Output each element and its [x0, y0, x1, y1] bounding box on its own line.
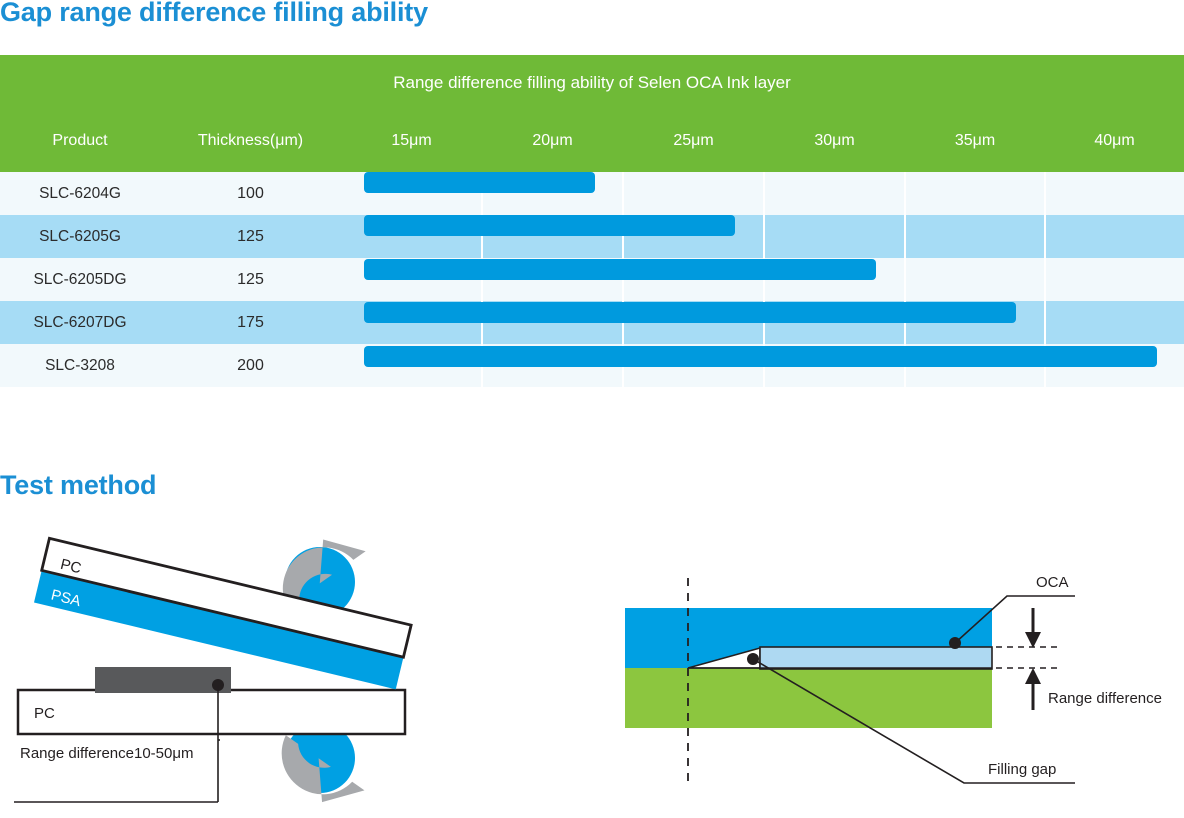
test-method-tilt-diagram: PC PC PSA Range difference10-50μm [0, 520, 460, 818]
cell-bar-20um [482, 215, 623, 258]
cell-bar-25um [623, 301, 764, 344]
column-header-40um: 40μm [1045, 110, 1184, 172]
column-header-20um: 20μm [482, 110, 623, 172]
column-header-30um: 30μm [764, 110, 905, 172]
cell-bar-40um [1045, 301, 1184, 344]
cell-bar-30um [764, 301, 905, 344]
arrow-up-icon [1025, 668, 1041, 710]
table-row: SLC-6205DG 125 [0, 258, 1184, 301]
cell-bar-35um [905, 344, 1045, 387]
page-title-test-method: Test method [0, 470, 156, 501]
bottom-rotation-arrow-icon [266, 723, 364, 818]
tilted-laminate: PC PSA [34, 538, 411, 689]
column-header-product: Product [0, 110, 160, 172]
cell-bar-20um [482, 344, 623, 387]
cell-bar-35um [905, 258, 1045, 301]
oca-label: OCA [1036, 574, 1069, 591]
bottom-pc-label: PC [34, 705, 55, 722]
cell-bar-25um [623, 215, 764, 258]
table-header-row: Product Thickness(μm) 15μm 20μm 25μm 30μ… [0, 110, 1184, 172]
column-header-thickness: Thickness(μm) [160, 110, 341, 172]
page-title-gap-range: Gap range difference filling ability [0, 0, 428, 28]
cell-product: SLC-3208 [0, 344, 160, 387]
cell-bar-30um [764, 258, 905, 301]
arrow-down-icon [1025, 608, 1041, 648]
cell-bar-40um [1045, 172, 1184, 215]
table-row: SLC-6207DG 175 [0, 301, 1184, 344]
cell-bar-40um [1045, 215, 1184, 258]
cell-bar-40um [1045, 344, 1184, 387]
cell-bar-30um [764, 215, 905, 258]
cell-bar-30um [764, 172, 905, 215]
filling-ability-table-wrap: Range difference filling ability of Sele… [0, 55, 1184, 392]
range-difference-note: Range difference10-50μm [20, 745, 193, 762]
cell-bar-25um [623, 258, 764, 301]
cell-thickness: 125 [160, 215, 341, 258]
table-caption: Range difference filling ability of Sele… [0, 55, 1184, 110]
spacer-block [95, 667, 231, 693]
cell-thickness: 175 [160, 301, 341, 344]
cell-bar-35um [905, 301, 1045, 344]
cell-product: SLC-6204G [0, 172, 160, 215]
cell-thickness: 100 [160, 172, 341, 215]
cell-product: SLC-6207DG [0, 301, 160, 344]
cell-bar-25um [623, 344, 764, 387]
table-caption-row: Range difference filling ability of Sele… [0, 55, 1184, 110]
table-row: SLC-3208 200 [0, 344, 1184, 387]
filling-gap-cross-section-diagram: OCA Range difference Filling gap [600, 540, 1184, 810]
column-header-15um: 15μm [341, 110, 482, 172]
cell-bar-20um [482, 172, 623, 215]
cell-bar-15um [341, 172, 482, 215]
range-difference-label: Range difference [1048, 690, 1162, 707]
cell-bar-20um [482, 258, 623, 301]
substrate-green-layer [625, 668, 992, 728]
filling-gap-layer [760, 647, 992, 669]
filling-gap-label: Filling gap [988, 761, 1056, 778]
cell-bar-40um [1045, 258, 1184, 301]
cell-product: SLC-6205DG [0, 258, 160, 301]
cell-bar-35um [905, 215, 1045, 258]
cell-bar-15um [341, 301, 482, 344]
cell-thickness: 125 [160, 258, 341, 301]
cell-bar-30um [764, 344, 905, 387]
table-row: SLC-6204G 100 [0, 172, 1184, 215]
table-row: SLC-6205G 125 [0, 215, 1184, 258]
cell-bar-25um [623, 172, 764, 215]
cell-bar-15um [341, 215, 482, 258]
column-header-25um: 25μm [623, 110, 764, 172]
column-header-35um: 35μm [905, 110, 1045, 172]
cell-thickness: 200 [160, 344, 341, 387]
cell-bar-35um [905, 172, 1045, 215]
cell-bar-15um [341, 258, 482, 301]
cell-product: SLC-6205G [0, 215, 160, 258]
filling-ability-table: Range difference filling ability of Sele… [0, 55, 1184, 387]
cell-bar-20um [482, 301, 623, 344]
bottom-pc-plate: PC [18, 690, 405, 734]
cell-bar-15um [341, 344, 482, 387]
